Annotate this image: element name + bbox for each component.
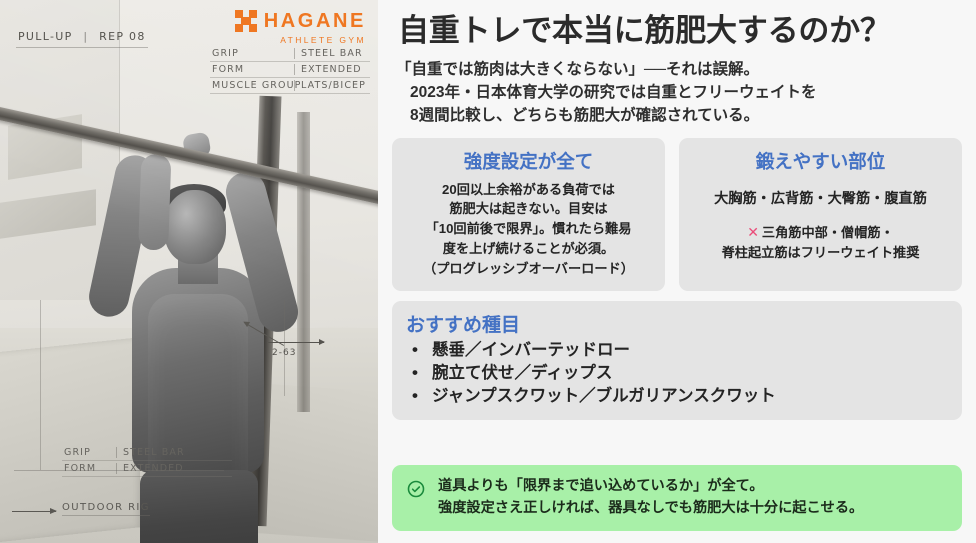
athlete-forearm-left <box>138 154 171 251</box>
spec-row: GRIP STEEL BAR <box>210 46 370 62</box>
card-muscle-groups-title: 鍛えやすい部位 <box>691 148 950 174</box>
check-circle-icon <box>406 479 426 504</box>
subtitle-line: 8週間比較し、どちらも筋肥大が確認されている。 <box>396 105 962 128</box>
photo-athlete <box>78 118 308 543</box>
brand-logo: HAGANE ATHLETE GYM <box>235 10 366 45</box>
photo-guide-line-b <box>40 300 41 470</box>
spec-divider <box>116 463 117 474</box>
photo-bottom-rule <box>14 470 224 471</box>
photo-dimension-line <box>268 342 324 343</box>
subtitle-line: 「自重では筋肉は大きくならない」──それは誤解。 <box>396 59 962 82</box>
hagane-logo-icon <box>235 10 257 32</box>
spec-divider <box>294 80 295 91</box>
photo-top-tag: PULL-UP | REP 08 <box>18 30 146 43</box>
spec-value: LATS/BICEP <box>301 80 366 91</box>
spec-divider <box>116 447 117 458</box>
card-muscle-groups-warning: ✕三角筋中部・僧帽筋・ 脊柱起立筋はフリーウェイト推奨 <box>691 222 950 263</box>
spec-row: GRIP STEEL BAR <box>62 445 232 461</box>
info-card-row: 強度設定が全て 20回以上余裕がある負荷では 筋肥大は起きない。目安は 「10回… <box>392 138 962 291</box>
athlete-head <box>164 190 226 264</box>
card-body-line: （プログレッシブオーバーロード） <box>404 259 653 279</box>
hero-photo-panel: PULL-UP | REP 08 HAGANE ATHLETE GYM GRIP… <box>0 0 378 543</box>
warn-first-line: ✕三角筋中部・僧帽筋・ <box>691 222 950 243</box>
spec-key: GRIP <box>212 48 288 59</box>
card-muscle-groups-main: 大胸筋・広背筋・大臀筋・腹直筋 <box>691 188 950 208</box>
card-recommended-exercises: おすすめ種目 懸垂／インバーテッドロー 腕立て伏せ／ディップス ジャンプスクワッ… <box>392 301 962 420</box>
list-item: 懸垂／インバーテッドロー <box>406 339 948 362</box>
card-body-line: 度を上げ続けることが必須。 <box>404 239 653 259</box>
spec-key: FORM <box>212 64 288 75</box>
callout-line: 道具よりも「限界まで追い込めているか」が全て。 <box>438 476 863 497</box>
photo-spec-list-bottom: GRIP STEEL BAR FORM EXTENDED <box>62 445 232 477</box>
photo-dimension-label: 2-63 <box>272 348 296 358</box>
summary-callout-text: 道具よりも「限界まで追い込めているか」が全て。 強度設定さえ正しければ、器具なし… <box>438 476 863 519</box>
list-item: ジャンプスクワット／ブルガリアンスクワット <box>406 385 948 408</box>
spec-row: MUSCLE GROUP LATS/BICEP <box>210 78 370 94</box>
slide-root: PULL-UP | REP 08 HAGANE ATHLETE GYM GRIP… <box>0 0 976 543</box>
spec-key: FORM <box>64 463 110 474</box>
cross-mark-icon: ✕ <box>747 224 762 240</box>
warn-line: 三角筋中部・僧帽筋・ <box>762 225 894 240</box>
card-muscle-groups: 鍛えやすい部位 大胸筋・広背筋・大臀筋・腹直筋 ✕三角筋中部・僧帽筋・ 脊柱起立… <box>679 138 962 291</box>
recommended-title: おすすめ種目 <box>406 310 948 337</box>
page-subtitle: 「自重では筋肉は大きくならない」──それは誤解。 2023年・日本体育大学の研究… <box>392 59 962 128</box>
card-body-line: 筋肥大は起きない。目安は <box>404 199 653 219</box>
spec-divider <box>294 48 295 59</box>
spec-divider <box>294 64 295 75</box>
spec-value: STEEL BAR <box>123 447 185 458</box>
spec-row: FORM EXTENDED <box>210 62 370 78</box>
list-item: 腕立て伏せ／ディップス <box>406 362 948 385</box>
photo-top-tag-label: PULL-UP <box>18 30 73 43</box>
photo-spec-list-top: GRIP STEEL BAR FORM EXTENDED MUSCLE GROU… <box>210 46 370 94</box>
outdoor-rig-arrow-icon <box>12 511 56 512</box>
spec-key: MUSCLE GROUP <box>212 80 288 91</box>
outdoor-rig-label: OUTDOOR RIG <box>62 502 150 516</box>
photo-top-tag-separator: | <box>77 30 94 43</box>
athlete-shorts <box>140 470 258 543</box>
callout-line: 強度設定さえ正しければ、器具なしでも筋肥大は十分に起こせる。 <box>438 498 863 519</box>
content-panel: 自重トレで本当に筋肥大するのか？ 「自重では筋肉は大きくならない」──それは誤解… <box>378 0 976 543</box>
spec-row: FORM EXTENDED <box>62 461 232 477</box>
photo-top-tag-rule <box>16 47 148 48</box>
card-intensity: 強度設定が全て 20回以上余裕がある負荷では 筋肥大は起きない。目安は 「10回… <box>392 138 665 291</box>
spec-value: EXTENDED <box>301 64 362 75</box>
summary-callout: 道具よりも「限界まで追い込めているか」が全て。 強度設定さえ正しければ、器具なし… <box>392 465 962 531</box>
card-intensity-body: 20回以上余裕がある負荷では 筋肥大は起きない。目安は 「10回前後で限界」。慣… <box>404 180 653 279</box>
card-body-line: 「10回前後で限界」。慣れたら難易 <box>404 219 653 239</box>
page-title: 自重トレで本当に筋肥大するのか？ <box>392 14 962 49</box>
brand-tagline: ATHLETE GYM <box>235 35 366 45</box>
spec-value: EXTENDED <box>123 463 184 474</box>
card-body-line: 20回以上余裕がある負荷では <box>404 180 653 200</box>
spec-value: STEEL BAR <box>301 48 363 59</box>
warn-line: 脊柱起立筋はフリーウェイト推奨 <box>691 243 950 263</box>
subtitle-line: 2023年・日本体育大学の研究では自重とフリーウェイトを <box>396 82 962 105</box>
recommended-list: 懸垂／インバーテッドロー 腕立て伏せ／ディップス ジャンプスクワット／ブルガリア… <box>406 339 948 409</box>
brand-name: HAGANE <box>264 11 366 31</box>
spec-key: GRIP <box>64 447 110 458</box>
brand-logo-row: HAGANE <box>235 10 366 32</box>
card-intensity-title: 強度設定が全て <box>404 148 653 174</box>
photo-top-tag-value: REP 08 <box>99 30 146 43</box>
